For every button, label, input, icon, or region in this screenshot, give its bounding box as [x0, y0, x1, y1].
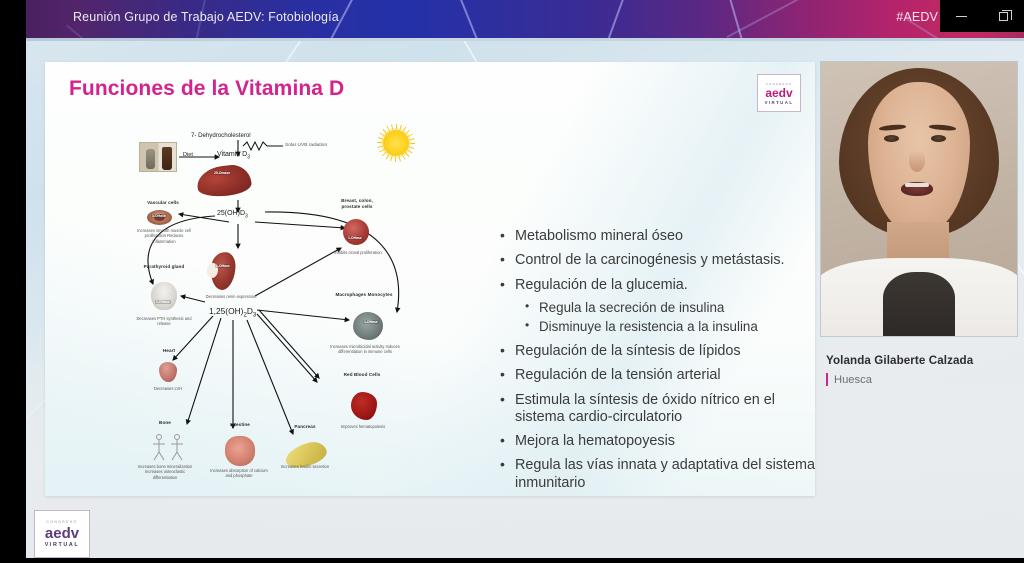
bullet-item: Regulación de la tensión arterial	[497, 367, 815, 384]
speaker-info: Yolanda Gilaberte Calzada Huesca	[826, 354, 1022, 386]
speaker-name: Yolanda Gilaberte Calzada	[826, 354, 1022, 367]
enzyme-vascular-label: 1-OHase	[151, 214, 167, 218]
node-label-heart: Heart	[147, 348, 191, 354]
diagram-label-uvb: Solar UVB radiation	[285, 143, 355, 149]
node-caption-intestine: Increases absorption of calcium and phos…	[207, 468, 271, 479]
parathyroid-illustration	[151, 282, 177, 310]
slide-logo-sup: CONGRESO	[766, 82, 792, 86]
speaker-nose	[909, 150, 925, 172]
diagram-label-25ohd3: 25(OH)D3	[217, 210, 248, 219]
node-label-red-blood-cells: Red Blood Cells	[333, 372, 391, 378]
window-frame-bottom	[0, 558, 1024, 563]
footer-logo-main: aedv	[45, 526, 79, 541]
red-blood-cells-illustration	[351, 392, 377, 420]
node-label-intestine: Intestine	[217, 422, 263, 428]
macrophage-illustration	[353, 312, 383, 340]
node-caption-macrophages-monocytes: Increases microbicidal activity Induces …	[329, 344, 401, 355]
footer-logo-sub: VIRTUAL	[45, 542, 80, 548]
bullet-item: Estimula la síntesis de óxido nítrico en…	[497, 392, 815, 427]
node-caption-vascular-cells: Increases smooth muscle cell proliferati…	[135, 228, 193, 244]
slide-congress-logo: CONGRESO aedv VIRTUAL	[757, 74, 801, 112]
accent-bar-icon	[826, 373, 828, 386]
diagram-label-125ohd3: 1,25(OH)2D3	[209, 306, 256, 319]
bullet-item: Mejora la hematopoyesis	[497, 433, 815, 450]
window-controls	[940, 0, 1024, 32]
speaker-location-row: Huesca	[826, 373, 1022, 386]
bone-illustration	[149, 432, 187, 462]
diagram-arrows	[137, 124, 427, 484]
slide-canvas[interactable]: Funciones de la Vitamina D CONGRESO aedv…	[45, 62, 815, 496]
enzyme-macrophage-label: 1-OHase	[363, 320, 379, 324]
vitamin-d3-text: Vitamin D	[217, 151, 247, 158]
vitamin-d-pathway-diagram: 7- Dehydrocholesterol Solar UVB radiatio…	[137, 124, 427, 484]
node-caption-heart: Decreases LVH	[139, 386, 197, 391]
speaker-video-panel[interactable]	[821, 62, 1017, 336]
kidney-caption: Decreases renin expression	[203, 294, 259, 299]
bullet-subitem: Disminuye la resistencia a la insulina	[497, 319, 815, 335]
bullet-item: Regula las vías innata y adaptativa del …	[497, 457, 815, 492]
app-root: Reunión Grupo de Trabajo AEDV: Fotobiolo…	[0, 0, 1024, 563]
speaker-inner-top	[883, 272, 955, 336]
diagram-label-diet: Diet	[183, 152, 193, 158]
breast-colon-prostate-illustration	[343, 219, 369, 245]
node-caption-red-blood-cells: Improves hematopoiesis	[329, 424, 397, 429]
metabolite-25-text: 25(OH)D	[217, 210, 245, 217]
metabolite-125-tail-subscript: 3	[253, 313, 256, 319]
enzyme-kidney-label: 1-OHase	[215, 264, 231, 268]
bullet-item: Control de la carcinogénesis y metástasi…	[497, 252, 815, 269]
enzyme-parathyroid-label: 1-OHase	[155, 300, 171, 304]
node-label-vascular-cells: Vascular cells	[137, 200, 189, 206]
metabolite-125-text: 1,25(OH)	[209, 306, 243, 316]
node-label-pancreas: Pancreas	[279, 424, 331, 430]
slide-logo-main: aedv	[765, 87, 792, 99]
vitamin-d3-subscript: 3	[247, 154, 250, 160]
speaker-location: Huesca	[834, 374, 872, 386]
node-caption-bone: Increases bone mineralization Increases …	[133, 464, 197, 480]
diagram-label-dehydrocholesterol: 7- Dehydrocholesterol	[191, 132, 251, 139]
bullet-subitem: Regula la secreción de insulina	[497, 300, 815, 316]
slide-logo-sub: VIRTUAL	[765, 100, 794, 105]
speaker-mouth	[901, 182, 933, 196]
bullet-item: Regulación de la síntesis de lípidos	[497, 343, 815, 360]
banner-hashtag: #AEDV	[896, 10, 938, 24]
enzyme-bcp-label: 1-OHase	[347, 236, 363, 240]
speaker-eye-left	[884, 135, 899, 142]
intestine-illustration	[225, 436, 255, 466]
minimize-button[interactable]	[948, 3, 974, 29]
node-caption-breast-colon-prostate: Inhibits clonal proliferation	[329, 250, 387, 255]
speaker-eye-right	[931, 135, 946, 142]
enzyme-25-ohase-label: 25-Omase	[213, 171, 231, 175]
node-label-bone: Bone	[143, 420, 187, 426]
footer-congress-logo: CONGRESO aedv VIRTUAL	[34, 510, 90, 558]
bullet-item: Metabolismo mineral óseo	[497, 228, 815, 245]
banner-title: Reunión Grupo de Trabajo AEDV: Fotobiolo…	[73, 10, 339, 24]
diagram-label-vitamin-d3: Vitamin D3	[217, 151, 250, 160]
maximize-button[interactable]	[990, 3, 1016, 29]
slide-bullet-list: Metabolismo mineral óseo Control de la c…	[497, 228, 815, 496]
node-caption-parathyroid-gland: Decreases PTH synthesis and release	[135, 316, 193, 327]
bullet-item: Regulación de la glucemia.	[497, 277, 815, 294]
banner-underline	[26, 38, 1024, 41]
metabolite-25-subscript: 3	[245, 213, 248, 219]
node-label-parathyroid-gland: Parathyroid gland	[137, 264, 191, 270]
node-caption-pancreas: Increases insulin secretion	[275, 464, 335, 469]
node-label-breast-colon-prostate: Breast, colon, prostate cells	[331, 198, 383, 209]
window-frame-left	[0, 0, 26, 563]
diet-photo	[139, 142, 177, 172]
minimize-icon	[956, 16, 967, 17]
footer-logo-sup: CONGRESO	[47, 520, 78, 524]
node-label-macrophages-monocytes: Macrophages Monocytes	[335, 292, 393, 298]
sun-icon	[383, 130, 409, 156]
event-banner: Reunión Grupo de Trabajo AEDV: Fotobiolo…	[26, 0, 1024, 38]
slide-title: Funciones de la Vitamina D	[69, 77, 344, 101]
maximize-icon	[999, 12, 1008, 21]
